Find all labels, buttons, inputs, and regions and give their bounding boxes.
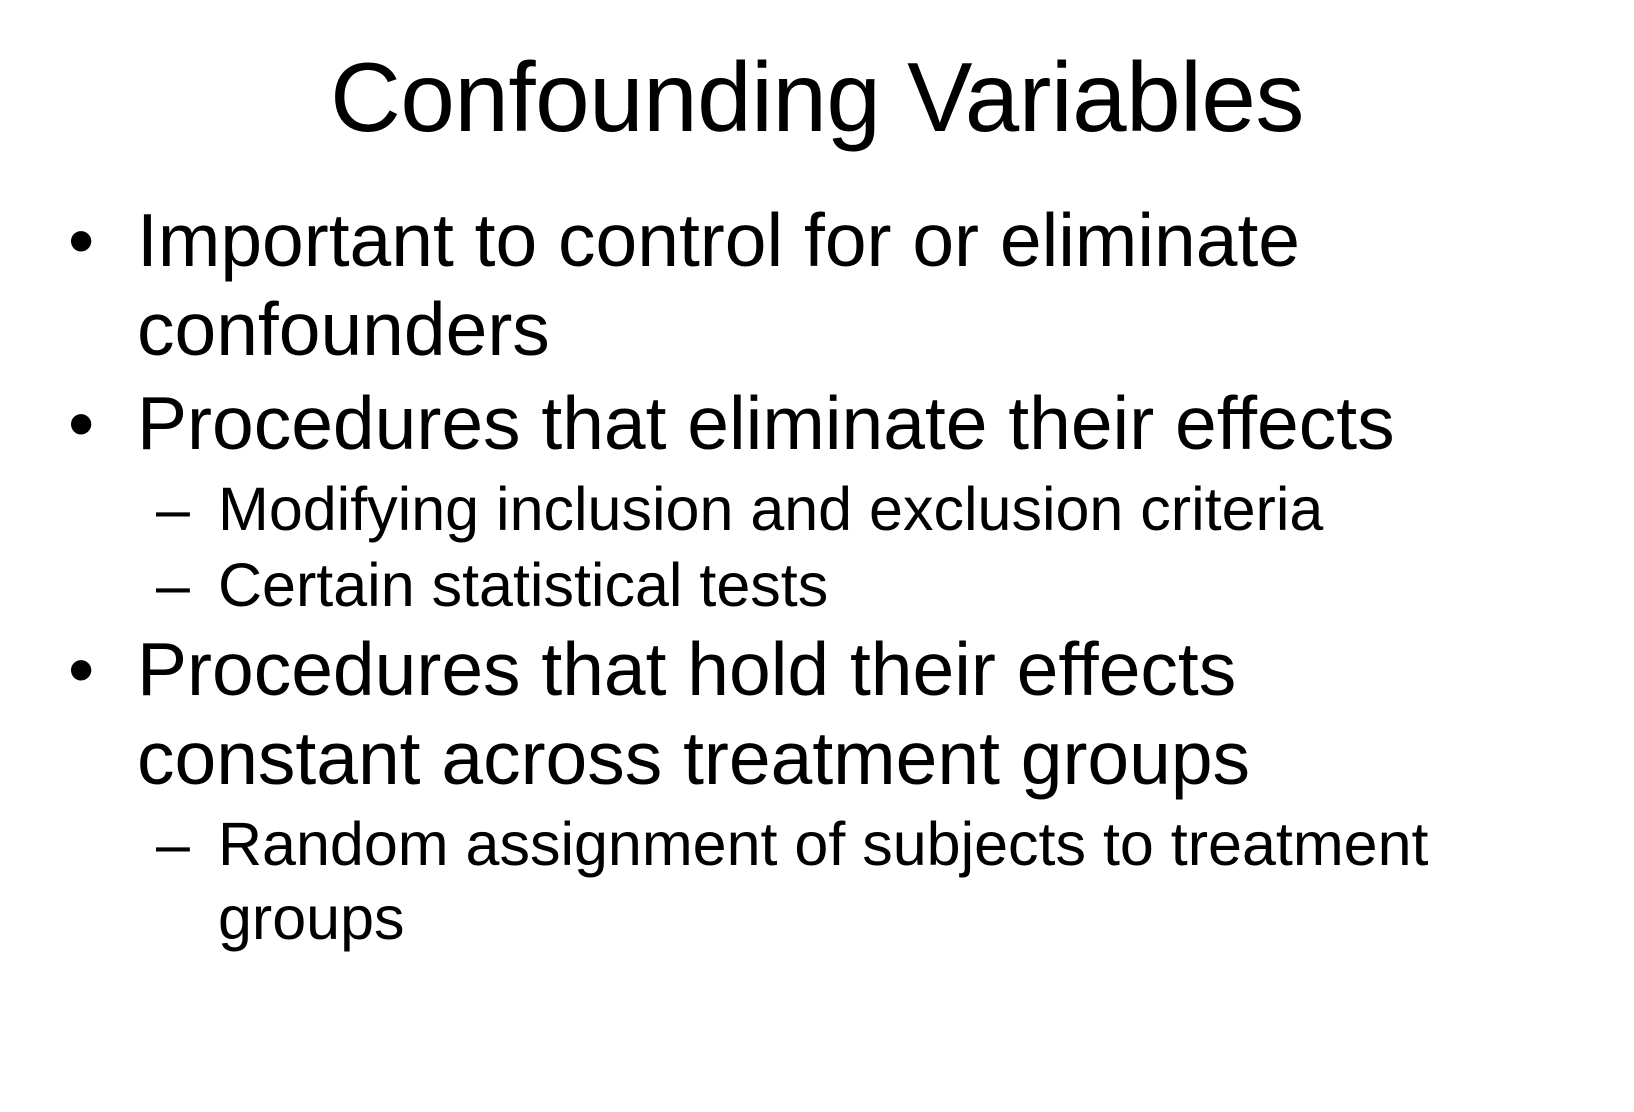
- bullet-text: Procedures that hold their effects const…: [137, 625, 1514, 804]
- bullet-text: Certain statistical tests: [218, 548, 1504, 622]
- bullet-text: Procedures that eliminate their effects: [137, 379, 1514, 468]
- bullet-marker-dash-icon: –: [156, 807, 204, 881]
- bullet-marker-dot-icon: •: [68, 196, 108, 285]
- slide-body-bullet-list: • Important to control for or eliminate …: [0, 196, 1634, 958]
- bullet-marker-dash-icon: –: [156, 472, 204, 546]
- bullet-item-level2[interactable]: – Random assignment of subjects to treat…: [0, 807, 1634, 956]
- presentation-slide: Confounding Variables • Important to con…: [0, 0, 1634, 1112]
- bullet-item-level1[interactable]: • Important to control for or eliminate …: [0, 196, 1634, 375]
- bullet-item-level2[interactable]: – Modifying inclusion and exclusion crit…: [0, 472, 1634, 546]
- bullet-text: Random assignment of subjects to treatme…: [218, 807, 1504, 956]
- bullet-item-level2[interactable]: – Certain statistical tests: [0, 548, 1634, 622]
- bullet-marker-dot-icon: •: [68, 625, 108, 714]
- bullet-text: Important to control for or eliminate co…: [137, 196, 1514, 375]
- bullet-marker-dot-icon: •: [68, 379, 108, 468]
- bullet-item-level1[interactable]: • Procedures that hold their effects con…: [0, 625, 1634, 804]
- bullet-marker-dash-icon: –: [156, 548, 204, 622]
- slide-title: Confounding Variables: [0, 48, 1634, 146]
- bullet-text: Modifying inclusion and exclusion criter…: [218, 472, 1504, 546]
- bullet-item-level1[interactable]: • Procedures that eliminate their effect…: [0, 379, 1634, 468]
